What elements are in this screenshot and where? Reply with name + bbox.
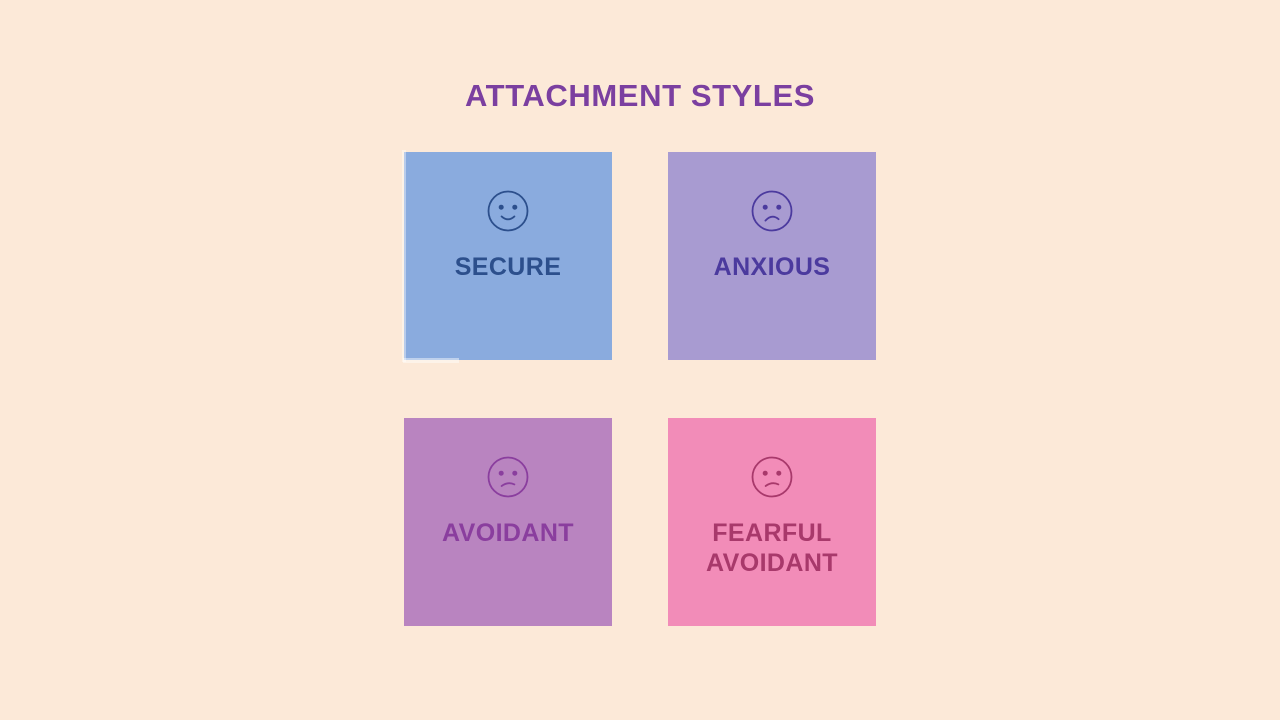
page-title: ATTACHMENT STYLES [0, 80, 1280, 111]
slight-frowning-face-icon [750, 455, 794, 499]
card-label-avoidant: AVOIDANT [442, 519, 574, 549]
attachment-styles-grid: SECURE ANXIOUS AVOIDANT [404, 152, 876, 624]
card-secure[interactable]: SECURE [404, 152, 612, 360]
card-anxious[interactable]: ANXIOUS [668, 152, 876, 360]
card-label-secure: SECURE [455, 253, 562, 283]
card-fearful-avoidant[interactable]: FEARFUL AVOIDANT [668, 418, 876, 626]
card-avoidant[interactable]: AVOIDANT [404, 418, 612, 626]
card-label-anxious: ANXIOUS [714, 253, 831, 283]
slide-canvas: ATTACHMENT STYLES SECURE ANXIOUS [0, 0, 1280, 720]
frowning-face-icon [750, 189, 794, 233]
slight-frowning-face-icon [486, 455, 530, 499]
card-label-fearful-avoidant: FEARFUL AVOIDANT [706, 518, 838, 578]
smiling-face-icon [486, 189, 530, 233]
